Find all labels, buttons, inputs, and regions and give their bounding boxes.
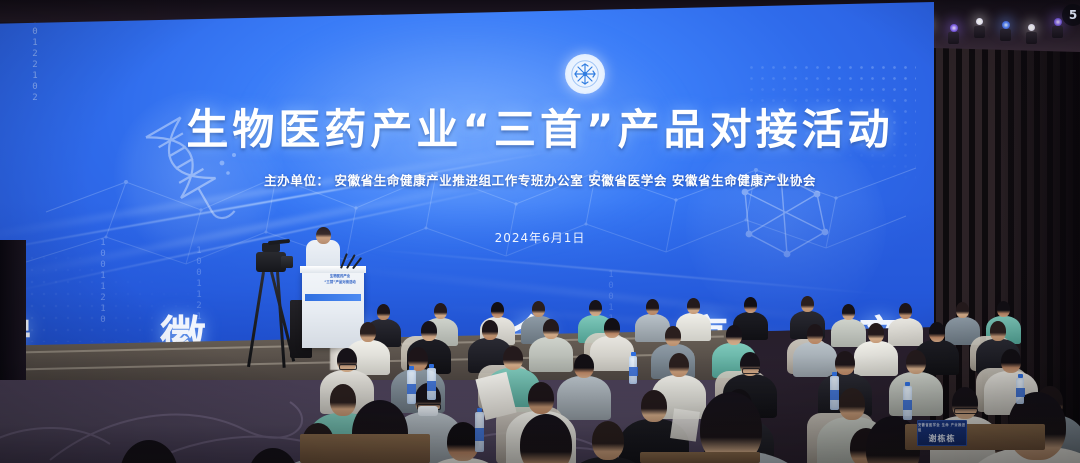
bottle-cap xyxy=(905,382,910,386)
audience-head xyxy=(929,322,945,342)
bottle-cap xyxy=(832,372,837,376)
audience-head xyxy=(592,421,624,460)
audience-head xyxy=(899,303,912,319)
audience-head xyxy=(434,303,447,319)
water-bottle xyxy=(407,370,416,404)
eyeglasses xyxy=(742,368,761,374)
conference-photo: 00122102 10011210 1001121 100112 安 徽 生 命… xyxy=(0,0,1080,463)
audience-head xyxy=(491,302,504,318)
water-bottle xyxy=(629,356,637,384)
face-mask xyxy=(418,406,439,416)
audience-head xyxy=(839,388,865,420)
audience-head xyxy=(330,384,356,416)
eyeglasses xyxy=(954,408,978,414)
audience-head xyxy=(807,324,823,344)
placard-name: 谢栋栋 xyxy=(929,433,956,444)
audience-torso xyxy=(831,319,866,348)
audience-head xyxy=(744,297,757,313)
audience-head xyxy=(360,322,376,342)
audience-head xyxy=(842,304,855,320)
bottle-cap xyxy=(477,408,482,412)
bottle-cap xyxy=(429,364,434,368)
audience-head xyxy=(687,298,700,314)
audience-head xyxy=(868,323,884,343)
bottle-label xyxy=(475,428,484,441)
audience-head xyxy=(990,321,1006,341)
audience-torso xyxy=(590,336,633,371)
audience-head-foreground xyxy=(248,448,298,463)
water-bottle xyxy=(1016,378,1024,404)
bottle-label xyxy=(903,400,912,411)
audience-head xyxy=(665,326,681,346)
bottle-cap xyxy=(1018,374,1023,378)
audience-head xyxy=(532,301,545,317)
audience-head xyxy=(528,382,554,414)
handout-paper xyxy=(670,408,700,441)
audience-head xyxy=(997,301,1010,317)
bottle-cap xyxy=(631,352,636,356)
audience-head xyxy=(1001,349,1021,373)
audience-torso xyxy=(557,376,611,420)
audience-head xyxy=(726,325,742,345)
attendee-table xyxy=(640,452,760,463)
audience-head xyxy=(482,320,498,340)
water-bottle xyxy=(903,386,912,420)
bottle-label xyxy=(629,367,638,376)
audience-head xyxy=(574,354,594,378)
name-placard: 安徽省医学会 生命 产业推进组 谢栋栋 xyxy=(917,420,967,446)
audience-head xyxy=(421,321,437,341)
audience-torso xyxy=(889,372,943,416)
corner-watermark: 5 xyxy=(1062,4,1080,26)
audience-torso xyxy=(529,337,572,372)
audience-head xyxy=(952,387,978,419)
eyeglasses xyxy=(339,364,358,370)
bottle-label xyxy=(1016,388,1025,396)
audience-head xyxy=(377,304,390,320)
audience-area xyxy=(0,0,1080,463)
audience-torso xyxy=(888,318,923,347)
bottle-label xyxy=(427,381,436,391)
attendee-table xyxy=(300,434,430,463)
audience-head xyxy=(646,299,659,315)
audience-head xyxy=(906,350,926,374)
bottle-label xyxy=(830,390,839,401)
audience-head xyxy=(835,351,855,375)
audience-head xyxy=(641,390,667,422)
audience-torso xyxy=(793,342,836,377)
audience-head xyxy=(801,296,814,312)
audience-torso xyxy=(854,341,897,376)
water-bottle xyxy=(427,368,436,400)
audience-head xyxy=(589,300,602,316)
audience-head xyxy=(604,318,620,338)
audience-head xyxy=(669,353,689,377)
water-bottle xyxy=(475,412,484,452)
audience-head xyxy=(956,302,969,318)
audience-head xyxy=(543,319,559,339)
audience-torso xyxy=(676,313,711,342)
bottle-label xyxy=(407,384,416,395)
audience-head-foreground xyxy=(120,440,178,463)
water-bottle xyxy=(830,376,839,410)
bottle-cap xyxy=(409,366,414,370)
placard-org: 安徽省医学会 生命 产业推进组 xyxy=(918,422,966,432)
audience-head xyxy=(503,346,523,370)
